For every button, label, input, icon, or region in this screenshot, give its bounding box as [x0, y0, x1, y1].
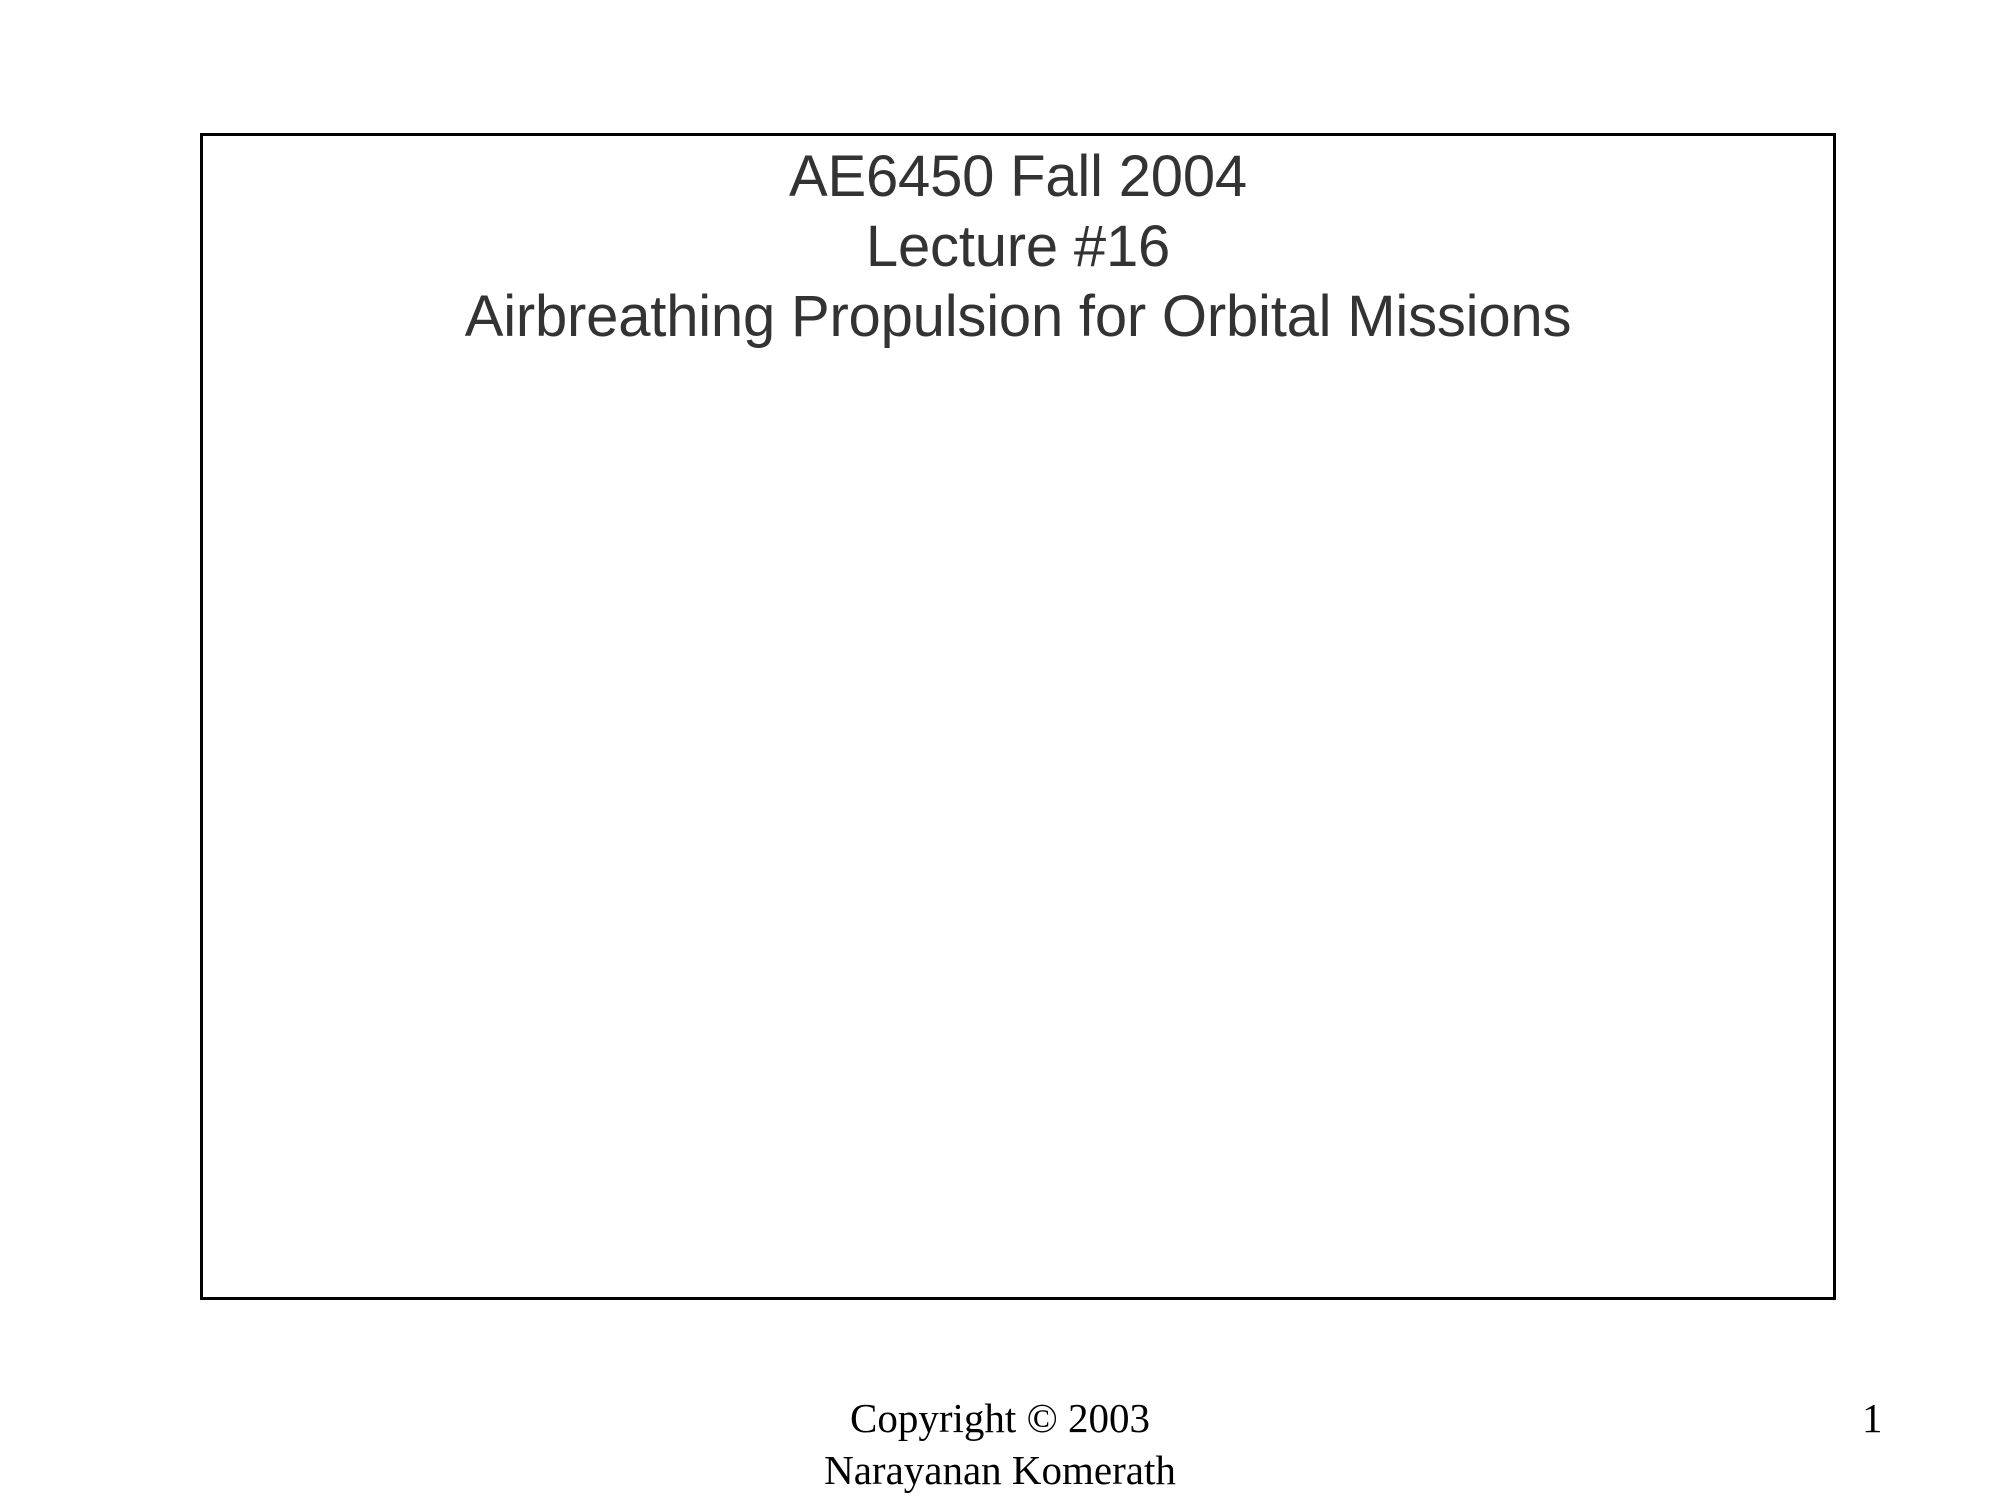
slide-title: AE6450 Fall 2004 Lecture #16 Airbreathin… — [203, 142, 1833, 352]
slide-content-frame: AE6450 Fall 2004 Lecture #16 Airbreathin… — [200, 133, 1836, 1300]
slide-title-line-3: Airbreathing Propulsion for Orbital Miss… — [203, 282, 1833, 352]
page-number: 1 — [1862, 1392, 1922, 1444]
copyright-line: Copyright © 2003 — [0, 1392, 2000, 1444]
slide-title-line-2: Lecture #16 — [203, 212, 1833, 282]
slide-footer: Copyright © 2003 Narayanan Komerath — [0, 1392, 2000, 1496]
author-line: Narayanan Komerath — [0, 1444, 2000, 1496]
slide-page: AE6450 Fall 2004 Lecture #16 Airbreathin… — [0, 0, 2000, 1500]
slide-title-line-1: AE6450 Fall 2004 — [203, 142, 1833, 212]
